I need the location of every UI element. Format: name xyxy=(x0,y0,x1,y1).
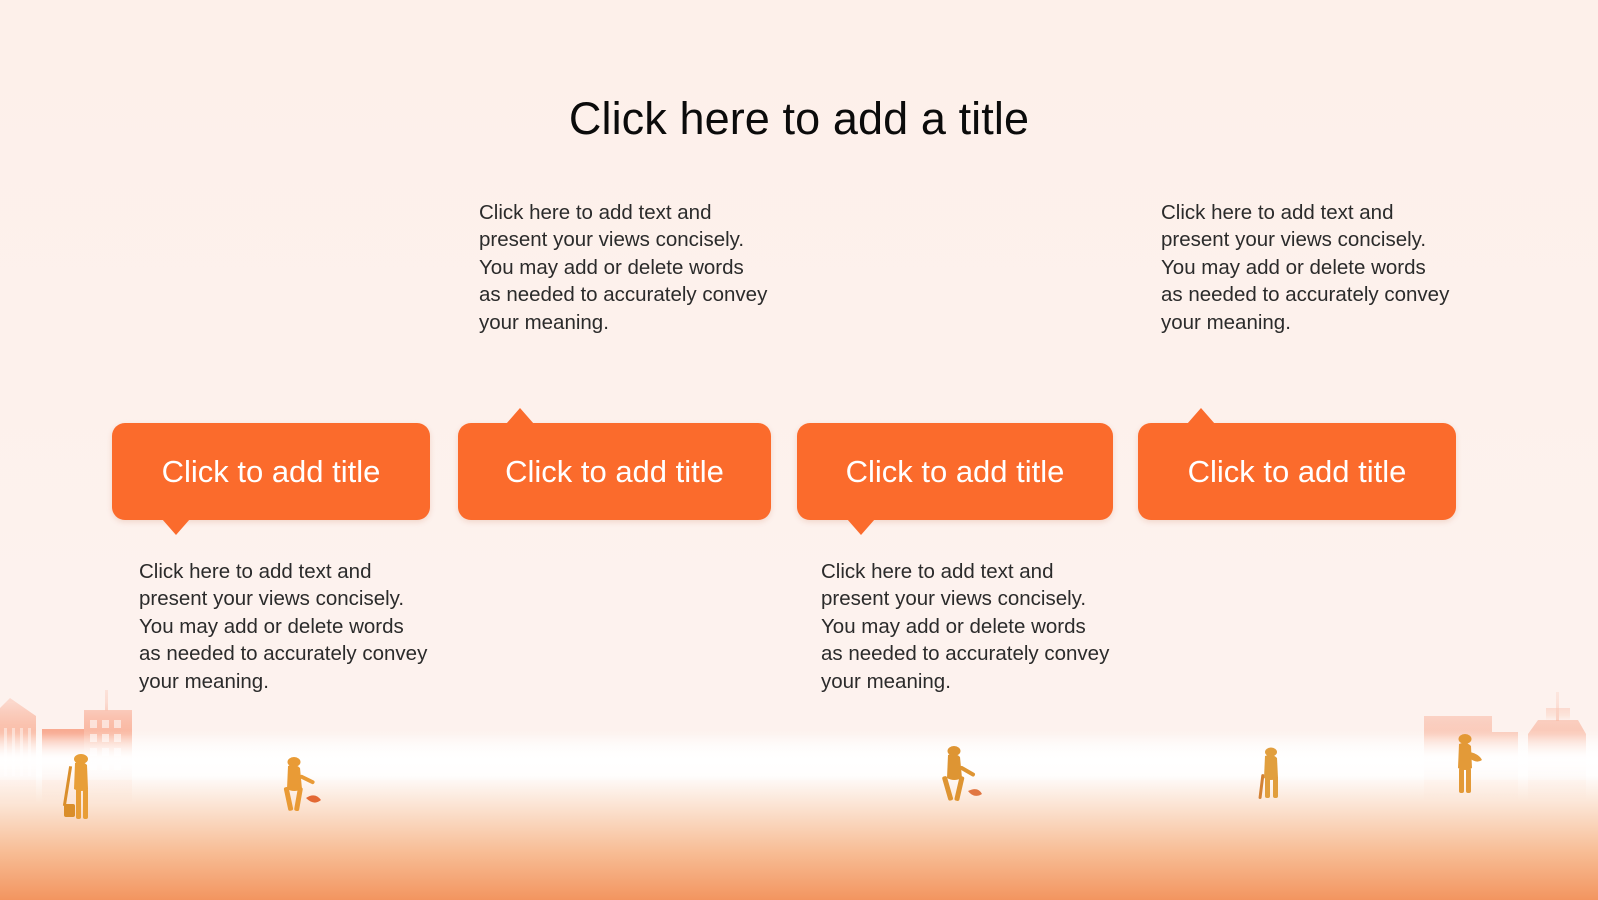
callout-label-1: Click to add title xyxy=(112,423,430,520)
wide-block xyxy=(1424,716,1518,800)
callout-label-4: Click to add title xyxy=(1138,423,1456,520)
body-text-1[interactable]: Click here to add text and present your … xyxy=(139,558,429,695)
slide-title[interactable]: Click here to add a title xyxy=(0,92,1598,146)
ground-gradient xyxy=(0,730,1598,900)
body-text-3[interactable]: Click here to add text and present your … xyxy=(821,558,1111,695)
callout-box-1[interactable]: Click to add title xyxy=(112,423,430,520)
colonnade-building xyxy=(0,698,36,802)
worker-sweeping-icon xyxy=(1253,744,1289,802)
callout-tail-up-icon xyxy=(506,408,534,424)
callout-box-4[interactable]: Click to add title xyxy=(1138,423,1456,520)
worker-sweeping-icon xyxy=(270,754,324,814)
callout-label-2: Click to add title xyxy=(458,423,771,520)
callout-tail-up-icon xyxy=(1187,408,1215,424)
callout-tail-down-icon xyxy=(162,519,190,535)
city-skyline-left xyxy=(0,684,142,802)
body-text-2[interactable]: Click here to add text and present your … xyxy=(479,199,769,336)
mid-rise-block xyxy=(42,729,84,802)
callout-tail-down-icon xyxy=(847,519,875,535)
worker-digging-icon xyxy=(62,750,96,824)
callout-label-3: Click to add title xyxy=(797,423,1113,520)
slide-canvas: Click here to add a title Click here to … xyxy=(0,0,1598,900)
horizon-haze xyxy=(0,734,1598,780)
callout-box-3[interactable]: Click to add title xyxy=(797,423,1113,520)
body-text-4[interactable]: Click here to add text and present your … xyxy=(1161,199,1451,336)
callout-box-2[interactable]: Click to add title xyxy=(458,423,771,520)
city-skyline-right xyxy=(1418,690,1598,800)
office-tower xyxy=(84,690,132,802)
tower-with-antenna xyxy=(1528,692,1586,800)
worker-standing-icon xyxy=(1450,730,1486,796)
worker-sweeping-icon xyxy=(932,743,984,805)
